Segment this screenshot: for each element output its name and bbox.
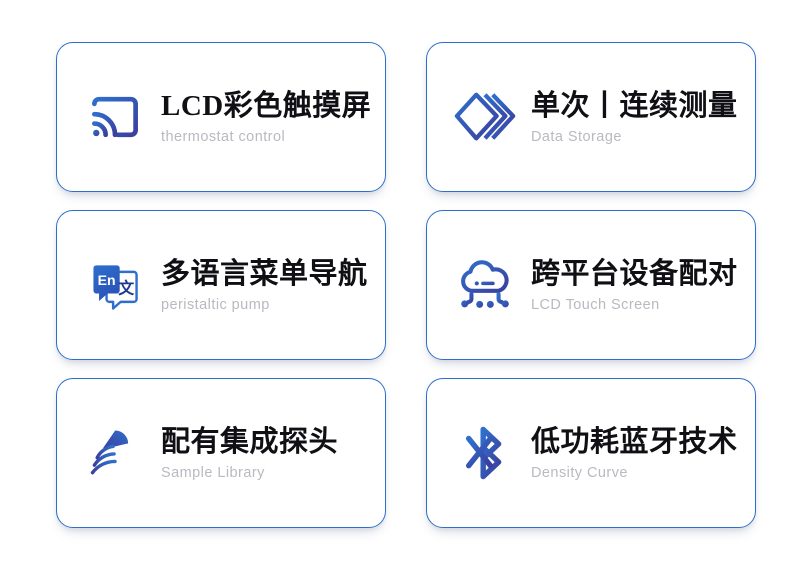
stacked-diamonds-icon [449, 81, 521, 153]
feature-card-device-pairing[interactable]: 跨平台设备配对 LCD Touch Screen [426, 210, 756, 360]
feature-text-group: 多语言菜单导航 peristaltic pump [161, 256, 385, 315]
satellite-signal-icon [79, 417, 151, 489]
feature-text-group: 配有集成探头 Sample Library [161, 424, 385, 483]
translate-icon: En 文 [79, 249, 151, 321]
card-subtitle: LCD Touch Screen [531, 297, 755, 314]
feature-card-measurement-mode[interactable]: 单次丨连续测量 Data Storage [426, 42, 756, 192]
feature-card-grid: LCD彩色触摸屏 thermostat control [56, 42, 756, 528]
feature-text-group: LCD彩色触摸屏 thermostat control [161, 88, 385, 147]
card-title: 单次丨连续测量 [531, 90, 755, 122]
feature-text-group: 跨平台设备配对 LCD Touch Screen [531, 256, 755, 315]
feature-card-board: LCD彩色触摸屏 thermostat control [0, 0, 800, 569]
card-title: 多语言菜单导航 [161, 258, 385, 290]
card-title: 跨平台设备配对 [531, 258, 755, 290]
feature-text-group: 低功耗蓝牙技术 Density Curve [531, 424, 755, 483]
feature-card-lcd-touch-screen[interactable]: LCD彩色触摸屏 thermostat control [56, 42, 386, 192]
card-subtitle: thermostat control [161, 129, 385, 146]
card-subtitle: peristaltic pump [161, 297, 385, 314]
card-title: 低功耗蓝牙技术 [531, 426, 755, 458]
bluetooth-icon [449, 417, 521, 489]
card-title: 配有集成探头 [161, 426, 385, 458]
card-subtitle: Density Curve [531, 465, 755, 482]
translate-target-label: 文 [118, 278, 134, 297]
feature-card-integrated-probe[interactable]: 配有集成探头 Sample Library [56, 378, 386, 528]
feature-card-bluetooth[interactable]: 低功耗蓝牙技术 Density Curve [426, 378, 756, 528]
feature-card-multilanguage-menu[interactable]: En 文 多语言菜单导航 peristaltic pump [56, 210, 386, 360]
card-subtitle: Data Storage [531, 129, 755, 146]
translate-source-label: En [98, 272, 116, 288]
card-subtitle: Sample Library [161, 465, 385, 482]
feature-text-group: 单次丨连续测量 Data Storage [531, 88, 755, 147]
cloud-network-icon [449, 249, 521, 321]
screen-cast-icon [79, 81, 151, 153]
card-title: LCD彩色触摸屏 [161, 90, 385, 122]
